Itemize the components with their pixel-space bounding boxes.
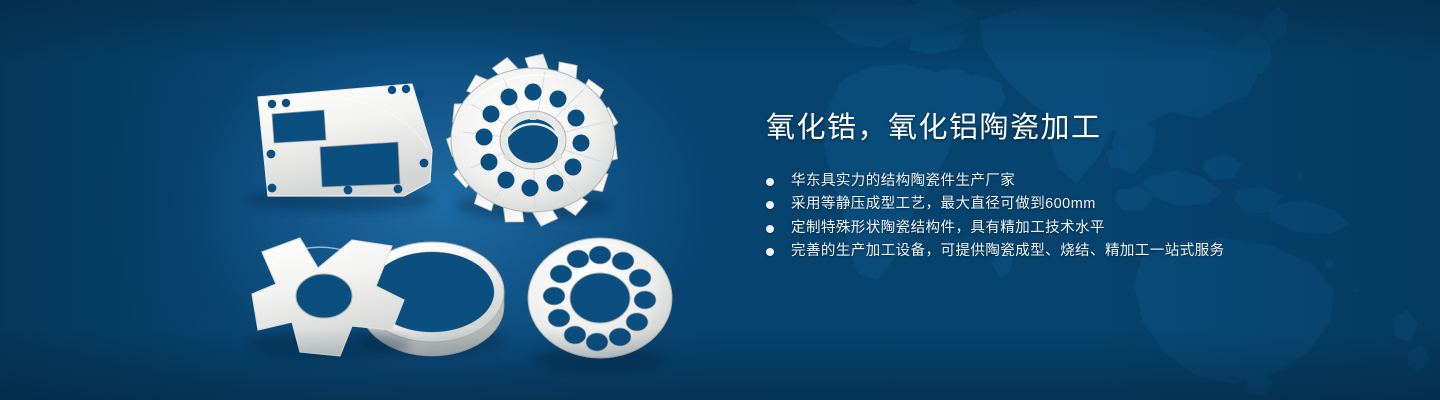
banner-headline: 氧化锆，氧化铝陶瓷加工 xyxy=(766,108,1386,148)
ceramic-parts-photo xyxy=(0,0,740,400)
ceramic-impeller-disc xyxy=(445,53,621,228)
list-item: 完善的生产加工设备，可提供陶瓷成型、烧结、精加工一站式服务 xyxy=(766,240,1386,263)
list-item-label: 采用等静压成型工艺，最大直径可做到600mm xyxy=(791,196,1096,212)
bullet-dot-icon xyxy=(766,178,774,186)
feature-list: 华东具实力的结构陶瓷件生产厂家 采用等静压成型工艺，最大直径可做到600mm 定… xyxy=(766,170,1386,263)
bullet-dot-icon xyxy=(766,248,774,256)
list-item: 华东具实力的结构陶瓷件生产厂家 xyxy=(766,170,1386,193)
bullet-dot-icon xyxy=(766,201,774,209)
ceramic-cross-plate xyxy=(250,238,410,360)
bullet-dot-icon xyxy=(766,225,774,233)
ceramic-perforated-disc xyxy=(528,238,672,373)
list-item-label: 华东具实力的结构陶瓷件生产厂家 xyxy=(791,173,1015,189)
ceramic-plate-with-cutouts xyxy=(245,84,435,212)
list-item-label: 定制特殊形状陶瓷结构件，具有精加工技术水平 xyxy=(791,220,1105,236)
list-item: 定制特殊形状陶瓷结构件，具有精加工技术水平 xyxy=(766,217,1386,240)
banner-copy: 氧化锆，氧化铝陶瓷加工 华东具实力的结构陶瓷件生产厂家 采用等静压成型工艺，最大… xyxy=(766,108,1386,263)
list-item-label: 完善的生产加工设备，可提供陶瓷成型、烧结、精加工一站式服务 xyxy=(791,243,1225,259)
ceramic-parts-illustration xyxy=(0,0,740,400)
hero-banner: 氧化锆，氧化铝陶瓷加工 华东具实力的结构陶瓷件生产厂家 采用等静压成型工艺，最大… xyxy=(0,0,1440,400)
list-item: 采用等静压成型工艺，最大直径可做到600mm xyxy=(766,193,1386,216)
